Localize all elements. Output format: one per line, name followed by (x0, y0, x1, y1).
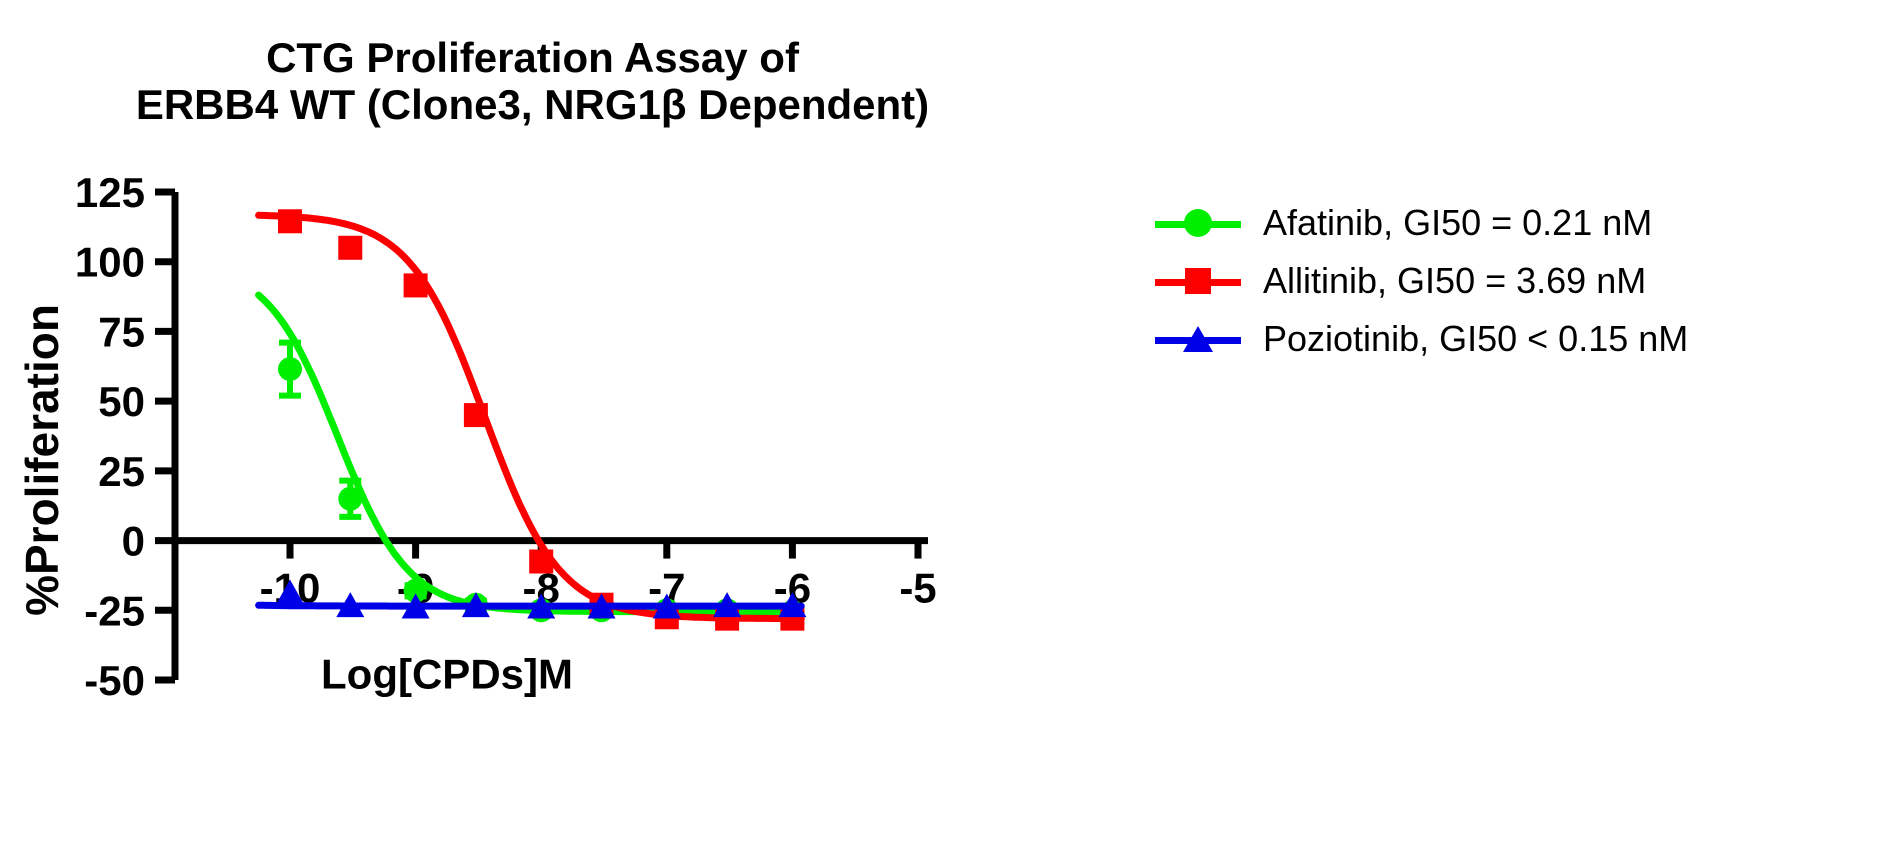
chart-title-line1: CTG Proliferation Assay of (0, 34, 1065, 81)
y-axis-label: %Proliferation (16, 304, 68, 616)
y-tick-label: 100 (75, 239, 145, 286)
chart-title-line2: ERBB4 WT (Clone3, NRG1β Dependent) (0, 81, 1065, 128)
x-axis-label: Log[CPDs]M (321, 651, 573, 698)
y-tick-label: 0 (122, 518, 145, 565)
legend-item-poziotinib: Poziotinib, GI50 < 0.15 nM (1155, 312, 1895, 366)
legend-label-afatinib: Afatinib, GI50 = 0.21 nM (1263, 202, 1652, 244)
data-point (278, 357, 302, 381)
chart-title: CTG Proliferation Assay of ERBB4 WT (Clo… (0, 34, 1065, 128)
data-point (338, 487, 362, 511)
dose-response-chart: -50-250255075100125-10-9-8-7-6-5Log[CPDs… (0, 170, 1150, 860)
y-tick-label: -25 (84, 587, 145, 634)
plot-area: -50-250255075100125-10-9-8-7-6-5Log[CPDs… (0, 170, 1150, 860)
data-point (278, 209, 302, 233)
y-tick-label: 125 (75, 170, 145, 216)
legend-item-afatinib: Afatinib, GI50 = 0.21 nM (1155, 196, 1895, 250)
legend-item-allitinib: Allitinib, GI50 = 3.69 nM (1155, 254, 1895, 308)
chart-legend: Afatinib, GI50 = 0.21 nM Allitinib, GI50… (1155, 196, 1895, 370)
data-point (464, 403, 488, 427)
x-tick-label: -5 (899, 565, 936, 612)
data-point (529, 549, 553, 573)
legend-key-afatinib (1155, 208, 1241, 238)
legend-label-allitinib: Allitinib, GI50 = 3.69 nM (1263, 260, 1646, 302)
data-point (404, 273, 428, 297)
data-point (338, 236, 362, 260)
series-allitinib (259, 209, 805, 630)
y-tick-label: 50 (98, 378, 145, 425)
y-tick-label: -50 (84, 657, 145, 704)
legend-key-allitinib (1155, 266, 1241, 296)
y-tick-label: 75 (98, 308, 145, 355)
legend-key-poziotinib (1155, 324, 1241, 354)
y-tick-label: 25 (98, 448, 145, 495)
legend-label-poziotinib: Poziotinib, GI50 < 0.15 nM (1263, 318, 1688, 360)
